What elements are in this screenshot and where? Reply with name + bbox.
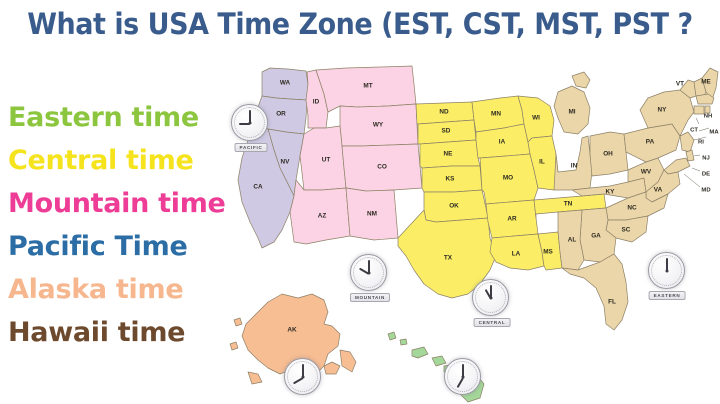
usa-time-zone-map: WA OR NV CA ID MT WY UT CO AZ NM ND SD N… [228,62,720,404]
state-label-VT: VT [676,81,684,88]
state-label-WA: WA [280,80,291,87]
state-label-CT: CT [690,128,698,134]
clock-alaska [284,358,324,395]
state-label-PA: PA [646,139,655,146]
clock-pin-central [489,296,492,299]
time-zone-infographic: What is USA Time Zone (EST, CST, MST, PS… [0,0,720,404]
leader-line-MD [684,174,700,187]
clock-pin-hawaii [461,375,464,378]
state-label-MO: MO [503,175,513,182]
state-label-DE: DE [702,172,710,178]
legend-item-pacific: Pacific Time [8,225,258,268]
state-label-NJ: NJ [702,156,710,162]
state-label-NH: NH [704,114,713,120]
clock-face-hawaii [444,358,481,395]
time-zone-legend-list: Eastern time Central time Mountain time … [8,96,258,354]
state-label-ME: ME [701,79,711,86]
leader-line-DE [692,168,700,171]
clock-pin-alaska [301,375,304,378]
state-label-ID: ID [313,99,320,106]
state-label-KY: KY [606,189,616,196]
state-label-MS: MS [543,249,553,256]
clock-mountain: MOUNTAIN [350,254,390,291]
state-label-ND: ND [439,109,449,116]
state-label-GA: GA [591,233,601,240]
state-CT [694,106,704,114]
clock-face-central [472,279,509,316]
clock-hawaii [444,358,484,395]
state-label-TX: TX [444,255,453,262]
clock-label-central: CENTRAL [474,318,511,327]
clock-central: CENTRAL [470,279,514,316]
state-RI [705,106,710,113]
state-label-LA: LA [512,251,521,258]
state-label-FL: FL [608,299,616,306]
state-label-NC: NC [627,205,637,212]
clock-face-pacific [231,104,268,141]
state-label-NE: NE [444,151,454,158]
state-DE [686,150,694,161]
clock-pin-mountain [367,271,370,274]
state-label-IA: IA [499,139,506,146]
state-label-AZ: AZ [318,213,327,220]
state-label-NV: NV [281,159,291,166]
legend-item-central: Central time [8,139,258,182]
state-MI [554,72,590,134]
clock-pacific: PACIFIC [231,104,271,141]
state-label-OH: OH [603,151,613,158]
page-title: What is USA Time Zone (EST, CST, MST, PS… [25,4,695,44]
state-label-CA: CA [253,184,263,191]
state-label-MN: MN [491,111,501,118]
state-label-VA: VA [654,187,663,194]
legend-item-eastern: Eastern time [8,96,258,139]
state-label-AL: AL [568,237,577,244]
legend-item-hawaii: Hawaii time [8,311,258,354]
clock-label-mountain: MOUNTAIN [350,293,390,302]
state-label-WY: WY [373,122,384,129]
state-label-KS: KS [446,176,456,183]
state-label-NY: NY [658,107,668,114]
state-label-MA: MA [709,130,719,136]
state-label-MD: MD [701,188,710,194]
state-label-WV: WV [641,169,652,176]
state-label-TN: TN [564,201,573,208]
clock-face-alaska [284,358,321,395]
clock-label-eastern: EASTERN [649,291,686,300]
clock-label-pacific: PACIFIC [235,143,268,152]
state-label-OR: OR [276,111,286,118]
clock-pin-eastern [665,269,668,272]
state-label-AK: AK [287,327,297,334]
state-label-RI: RI [698,140,704,146]
clock-face-mountain [350,254,387,291]
state-label-MT: MT [363,83,372,90]
state-label-WI: WI [532,115,540,122]
clock-pin-pacific [248,121,251,124]
state-label-UT: UT [322,157,331,164]
state-label-SD: SD [442,128,451,135]
legend-item-mountain: Mountain time [8,182,258,225]
state-label-MI: MI [568,109,575,116]
state-label-IL: IL [539,159,545,166]
leader-line-MA [699,128,709,131]
state-NJ [680,132,694,152]
leader-line-CT [696,118,699,124]
leader-line-NJ [694,155,700,156]
state-label-NM: NM [367,211,377,218]
clock-face-eastern [648,252,685,289]
state-label-IN: IN [571,163,578,170]
state-MD [664,158,690,174]
state-label-OK: OK [449,203,459,210]
state-label-AR: AR [507,216,517,223]
state-label-SC: SC [622,227,631,234]
state-label-CO: CO [377,164,387,171]
legend-item-alaska: Alaska time [8,268,258,311]
clock-eastern: EASTERN [644,252,690,289]
